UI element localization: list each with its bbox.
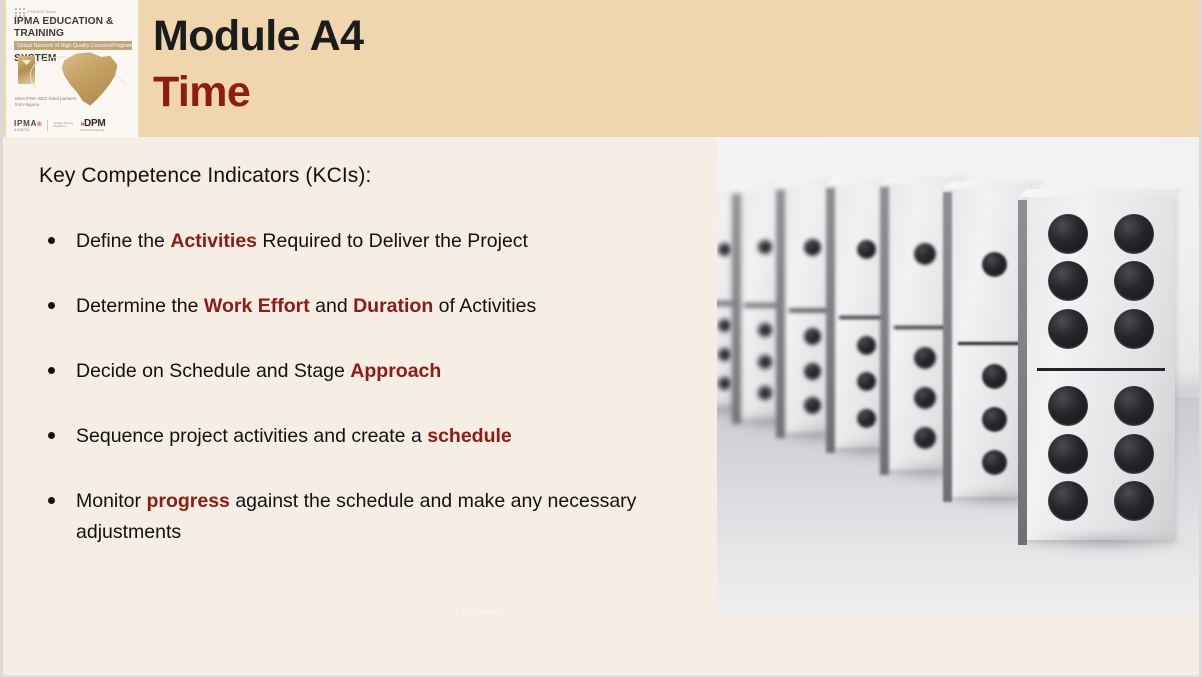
domino-pip bbox=[857, 240, 876, 259]
kci-bullet-item: Monitor progress against the schedule an… bbox=[39, 486, 689, 548]
domino-pip bbox=[982, 252, 1007, 277]
domino-pip bbox=[804, 328, 821, 345]
domino-pip bbox=[857, 372, 876, 391]
bullet-dot-icon bbox=[48, 302, 55, 309]
domino-pip bbox=[758, 323, 772, 337]
domino-pip bbox=[1114, 261, 1154, 301]
ipma-registration-logo-card: IPMA REG Global IPMA EDUCATION & TRAININ… bbox=[6, 0, 138, 137]
domino-pip bbox=[1048, 214, 1088, 254]
bullet-text: Determine the bbox=[76, 295, 204, 317]
seal-caption: IPMA REG Global bbox=[27, 10, 56, 14]
domino-pip bbox=[804, 363, 821, 380]
domino-pip bbox=[758, 355, 772, 369]
domino-top-face bbox=[1018, 189, 1184, 197]
bullet-dot-icon bbox=[48, 237, 55, 244]
domino-pip bbox=[982, 364, 1007, 389]
kci-heading: Key Competence Indicators (KCIs): bbox=[39, 164, 371, 188]
dpm-logo: »DPM Dual Professional bbox=[80, 118, 105, 132]
logo-card-subtitle-bar: Global Network of High Quality Courses/P… bbox=[14, 41, 132, 50]
domino-pip bbox=[1048, 481, 1088, 521]
domino-tile bbox=[1027, 195, 1175, 540]
domino-side-face bbox=[1018, 200, 1027, 545]
ipma-registered-mark: ® bbox=[37, 122, 42, 128]
slide-footer: ORACLE Partner ©Prof. Dr. Chinwi MGBERE bbox=[3, 613, 1202, 675]
domino-side-face bbox=[880, 187, 889, 475]
domino-pip bbox=[718, 348, 731, 361]
domino-pip bbox=[758, 240, 772, 254]
domino-pip bbox=[1114, 386, 1154, 426]
domino-pip bbox=[1114, 309, 1154, 349]
domino-side-face bbox=[826, 188, 835, 453]
dominoes-photo bbox=[717, 137, 1202, 612]
bullet-highlight-text: Duration bbox=[353, 295, 433, 317]
domino-pip bbox=[718, 377, 731, 390]
module-title: Module A4 bbox=[153, 8, 363, 64]
domino-center-bar bbox=[1037, 368, 1164, 371]
bullet-text: Decide on Schedule and Stage bbox=[76, 360, 350, 382]
domino-side-face bbox=[776, 190, 785, 438]
dpm-wordmark: DPM bbox=[84, 118, 105, 129]
domino-pip bbox=[914, 427, 936, 449]
kci-bullet-item: Determine the Work Effort and Duration o… bbox=[39, 291, 689, 322]
dpm-sub: Dual Professional bbox=[80, 129, 105, 132]
slide: IPMA REG Global IPMA EDUCATION & TRAININ… bbox=[0, 0, 1202, 677]
domino-side-face bbox=[732, 194, 741, 424]
domino-shadow bbox=[1021, 534, 1191, 550]
domino-pip bbox=[914, 347, 936, 369]
kci-bullet-item: Decide on Schedule and Stage Approach bbox=[39, 356, 689, 387]
domino-pip bbox=[718, 243, 731, 256]
bullet-text: of Activities bbox=[433, 295, 536, 317]
ipma-nigeria-sub: NIGERIA bbox=[14, 128, 42, 132]
domino-pip bbox=[1048, 261, 1088, 301]
kci-bullet-list: Define the Activities Required to Delive… bbox=[39, 226, 689, 548]
slide-header: IPMA REG Global IPMA EDUCATION & TRAININ… bbox=[3, 0, 1202, 137]
bullet-text: and bbox=[310, 295, 353, 317]
bullet-text: Sequence project activities and create a bbox=[76, 425, 427, 447]
domino-pip bbox=[857, 336, 876, 355]
bullet-highlight-text: Activities bbox=[170, 230, 257, 252]
kci-bullet-item: Sequence project activities and create a… bbox=[39, 421, 689, 452]
domino-pip bbox=[804, 239, 821, 256]
title-block: Module A4 Time bbox=[153, 8, 363, 120]
domino-pip bbox=[1048, 309, 1088, 349]
logo-card-subtitle-text: Global Network of High Quality Courses/P… bbox=[14, 43, 132, 49]
bullet-dot-icon bbox=[48, 497, 55, 504]
bullet-text: Monitor bbox=[76, 490, 146, 512]
domino-pip bbox=[1114, 481, 1154, 521]
kci-bullet-item: Define the Activities Required to Delive… bbox=[39, 226, 689, 257]
bullet-highlight-text: progress bbox=[146, 490, 229, 512]
bullet-highlight-text: Work Effort bbox=[204, 295, 310, 317]
domino-side-face bbox=[943, 192, 952, 502]
module-subtitle: Time bbox=[153, 64, 363, 120]
bullet-text: Define the bbox=[76, 230, 170, 252]
bullet-dot-icon bbox=[48, 367, 55, 374]
domino-pip bbox=[1114, 214, 1154, 254]
ipma-nigeria-wordmark: IPMA bbox=[14, 119, 37, 128]
domino-pip bbox=[1048, 434, 1088, 474]
domino-pip bbox=[1048, 386, 1088, 426]
certified-training-text: Certified Training Programme bbox=[53, 122, 75, 128]
ipma-nigeria-logo: IPMA® NIGERIA bbox=[14, 119, 42, 132]
logo-divider bbox=[47, 120, 48, 131]
logo-card-note: Meet IPMA REG-listed partners from Niger… bbox=[15, 96, 77, 108]
bullet-text: Required to Deliver the Project bbox=[257, 230, 528, 252]
domino-pip bbox=[758, 386, 772, 400]
domino-pip bbox=[804, 397, 821, 414]
domino-pip bbox=[982, 407, 1007, 432]
domino-top-face bbox=[943, 181, 1045, 189]
bullet-highlight-text: Approach bbox=[350, 360, 441, 382]
domino-pip bbox=[914, 243, 936, 265]
domino-pip bbox=[857, 409, 876, 428]
bullet-dot-icon bbox=[48, 432, 55, 439]
domino-pip bbox=[718, 319, 731, 332]
domino-pip bbox=[914, 387, 936, 409]
logo-card-partner-logos: IPMA® NIGERIA Certified Training Program… bbox=[14, 116, 134, 134]
domino-pip bbox=[1114, 434, 1154, 474]
domino-pip bbox=[982, 450, 1007, 475]
bullet-highlight-text: schedule bbox=[427, 425, 512, 447]
